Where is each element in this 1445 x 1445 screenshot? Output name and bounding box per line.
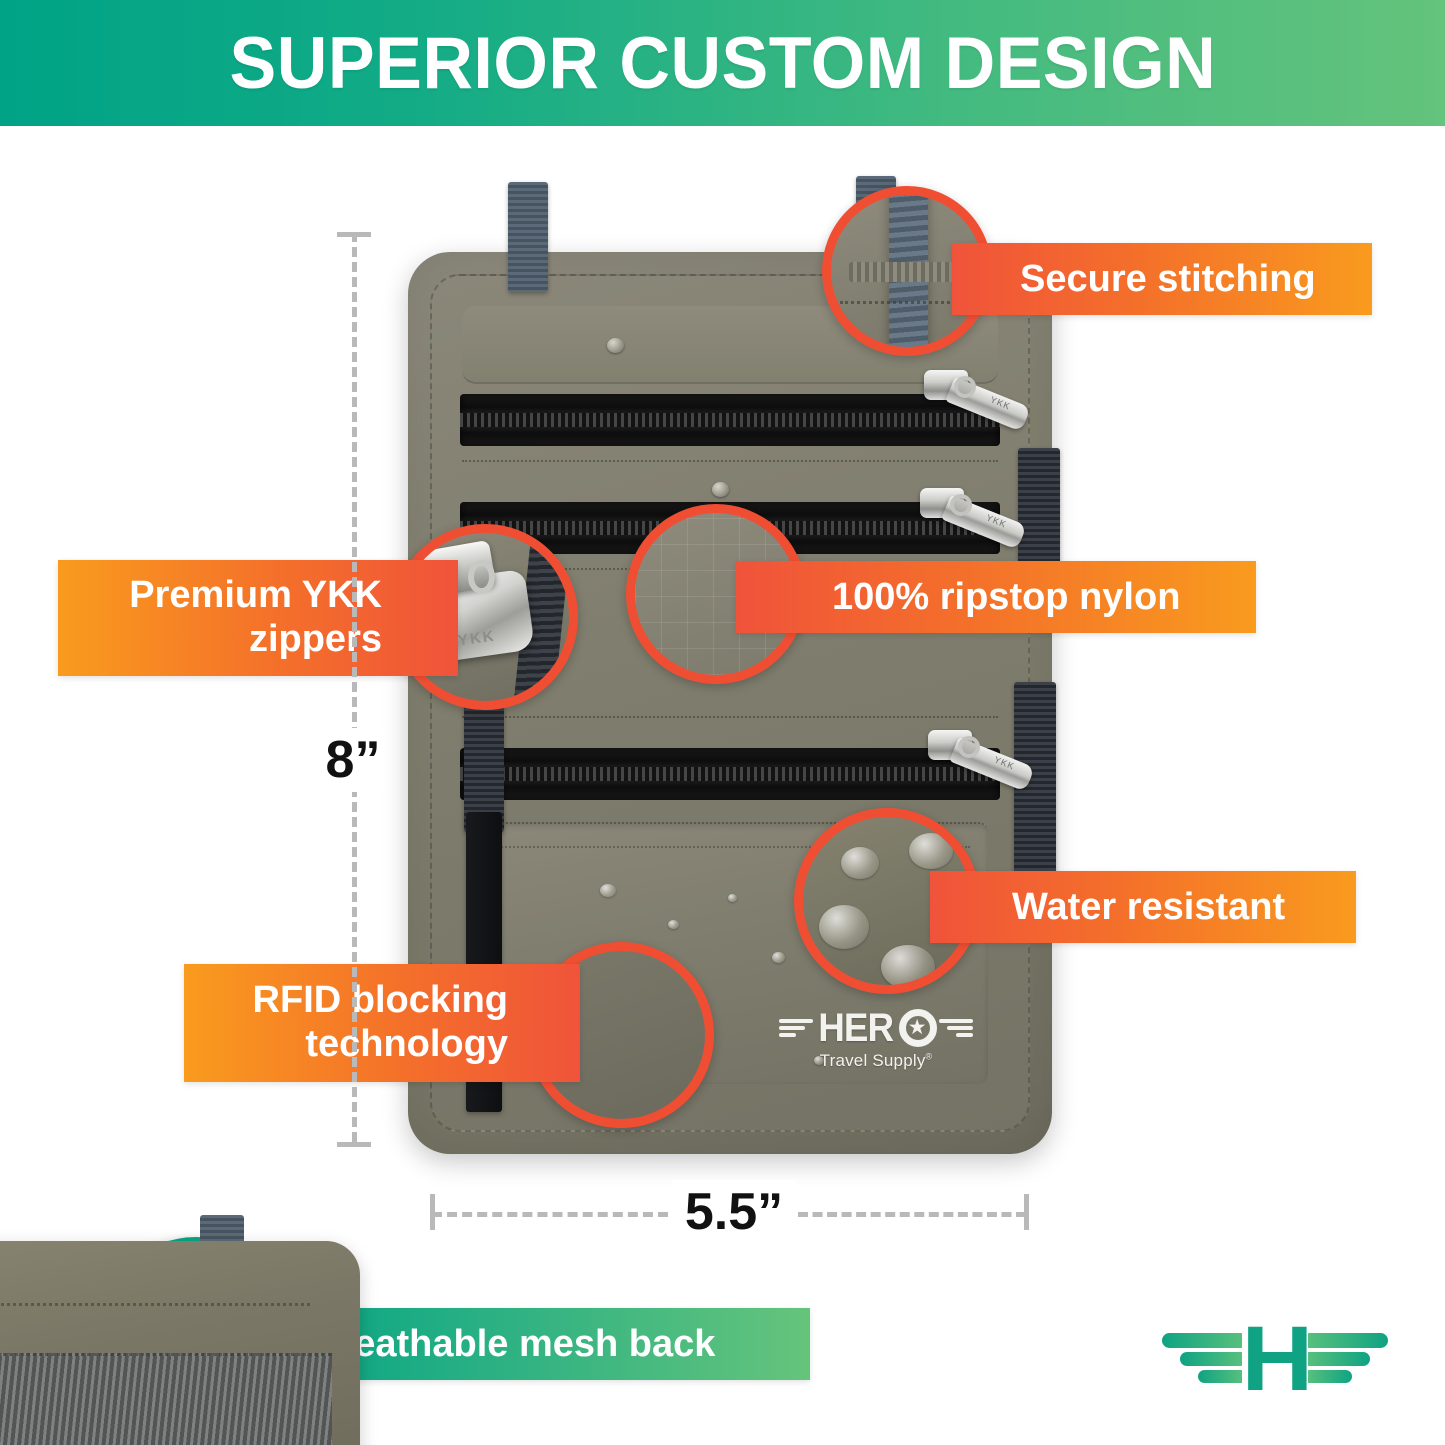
infographic-canvas: SUPERIOR CUSTOM DESIGN <box>0 0 1445 1445</box>
stitch-seam <box>462 716 998 718</box>
label-secure-stitching: Secure stitching <box>952 243 1372 315</box>
dimension-width-label: 5.5” <box>672 1180 796 1244</box>
water-droplet-zoom <box>881 945 935 989</box>
dimension-cap-bottom <box>337 1142 371 1147</box>
hero-subtitle-text: Travel Supply <box>820 1051 926 1070</box>
zipper-pull-ykk[interactable]: YKK <box>924 370 1032 416</box>
product-back-body <box>0 1241 360 1445</box>
water-droplet-zoom <box>819 905 869 949</box>
zipper-ring-icon <box>954 376 976 398</box>
bartack-stitch-zoom <box>849 262 965 282</box>
zipper-pull-ykk[interactable]: YKK <box>920 488 1028 534</box>
brand-logo-letter: H <box>1241 1322 1308 1397</box>
dimension-cap-right <box>1024 1194 1029 1230</box>
water-droplet <box>668 920 679 929</box>
water-droplet-zoom <box>909 833 953 869</box>
stitch-seam <box>462 460 998 462</box>
water-droplet-zoom <box>841 847 879 879</box>
dimension-line-vertical <box>352 232 357 1142</box>
wing-icon-left <box>1162 1329 1242 1391</box>
brand-logo-winged-h: H <box>1150 1300 1400 1420</box>
label-ykk-zippers: Premium YKK zippers <box>58 560 458 676</box>
zipper-pull-ykk[interactable]: YKK <box>928 730 1036 776</box>
dimension-cap-top <box>337 232 371 237</box>
label-rfid-blocking: RFID blocking technology <box>184 964 580 1082</box>
star-glyph: ★ <box>908 1018 927 1037</box>
label-ykk-zippers-line2: zippers <box>58 618 382 662</box>
label-water-resistant: Water resistant <box>930 871 1356 943</box>
zipper-row-1 <box>460 394 1000 446</box>
water-droplet <box>728 894 737 902</box>
rivet-icon <box>607 338 624 353</box>
label-rfid-blocking-line2: technology <box>184 1023 508 1067</box>
water-droplet <box>600 884 616 897</box>
label-secure-stitching-text: Secure stitching <box>1020 258 1372 301</box>
zipper-row-3 <box>460 748 1000 800</box>
rivet-icon <box>712 482 729 497</box>
breathable-mesh-panel <box>0 1353 332 1445</box>
label-water-resistant-text: Water resistant <box>1012 886 1356 929</box>
wing-icon-right <box>1308 1329 1388 1391</box>
back-stitch-seam <box>0 1303 310 1306</box>
neck-strap-left <box>508 182 548 292</box>
product-back-image <box>0 1215 390 1445</box>
zipper-ring-icon <box>950 494 972 516</box>
star-in-o-icon: ★ <box>899 1009 937 1047</box>
zipper-ring-icon <box>958 736 980 758</box>
zipper-ring-zoom <box>468 560 496 594</box>
hero-wordmark-row: HER ★ <box>779 1008 972 1048</box>
hero-wordmark: HER <box>819 1008 894 1048</box>
dimension-cap-left <box>430 1194 435 1230</box>
label-ripstop-nylon: 100% ripstop nylon <box>736 561 1256 633</box>
zipper-teeth-icon <box>460 767 1000 781</box>
hero-brand-on-product: HER ★ Travel Supply® <box>790 1008 962 1084</box>
trademark-symbol: ® <box>926 1051 933 1061</box>
zipper-teeth-icon <box>460 413 1000 427</box>
dimension-line-horizontal-left <box>432 1212 668 1217</box>
dimension-height-label: 8” <box>322 728 384 792</box>
label-rfid-blocking-line1: RFID blocking <box>184 979 508 1023</box>
header-banner: SUPERIOR CUSTOM DESIGN <box>0 0 1445 126</box>
wing-icon-left <box>779 1017 813 1039</box>
wing-icon-right <box>939 1017 973 1039</box>
water-droplet <box>772 952 785 963</box>
label-ykk-zippers-line1: Premium YKK <box>58 574 382 618</box>
page-title: SUPERIOR CUSTOM DESIGN <box>229 22 1216 105</box>
hero-subtitle: Travel Supply® <box>820 1051 933 1071</box>
dimension-line-horizontal-right <box>798 1212 1026 1217</box>
label-ripstop-nylon-text: 100% ripstop nylon <box>832 576 1256 619</box>
